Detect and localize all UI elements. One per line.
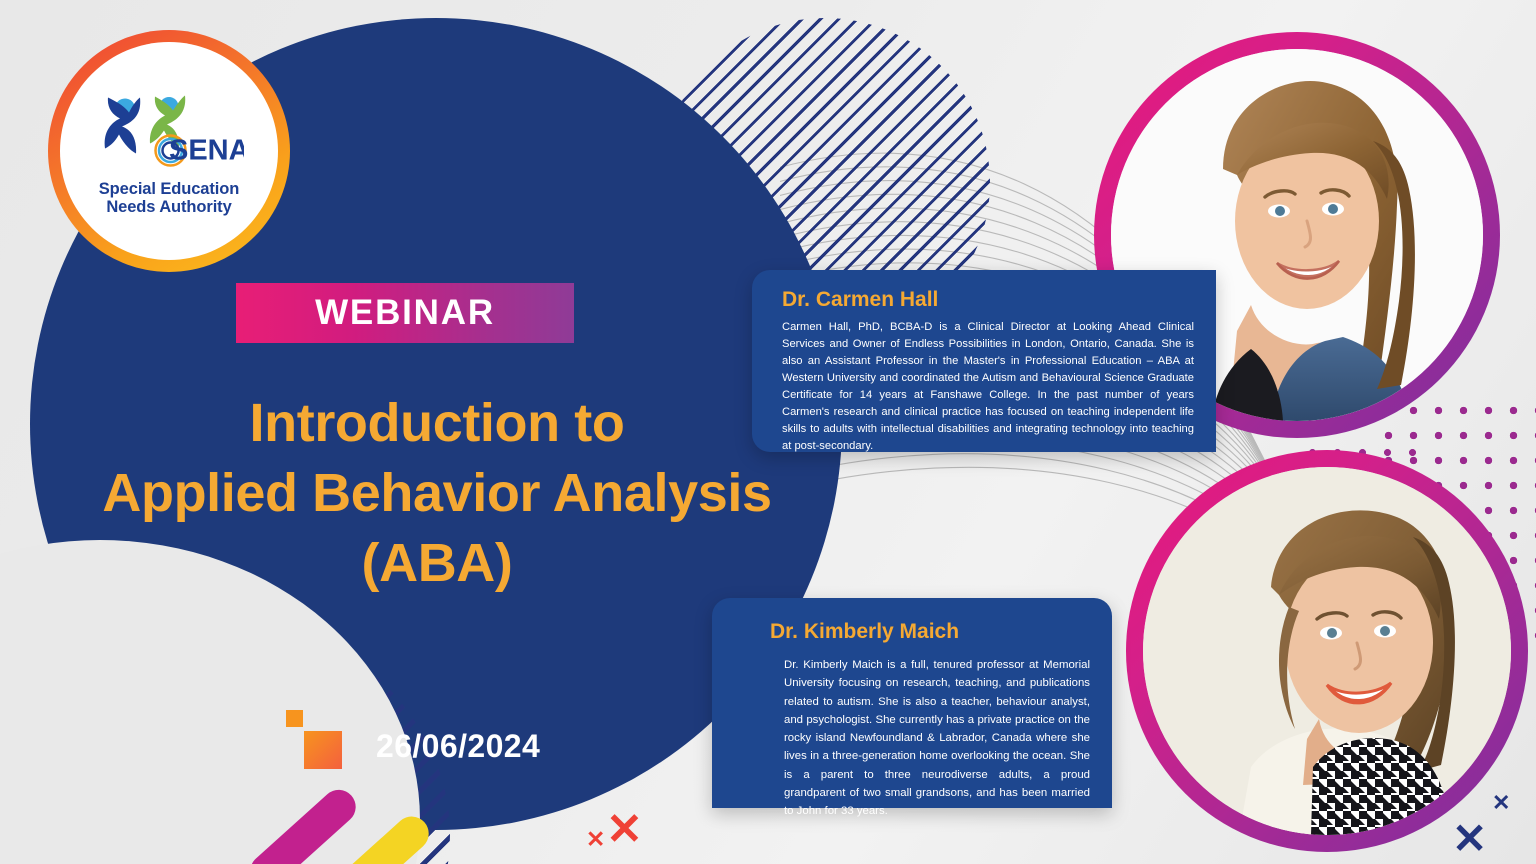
webinar-poster: ✕ ✕ ✕ ✕ SENA Special Education Needs A	[0, 0, 1536, 864]
speaker-bio-carmen-hall: Carmen Hall, PhD, BCBA-D is a Clinical D…	[782, 319, 1194, 455]
sena-logo-mark-icon: SENA	[94, 86, 244, 182]
x-mark-icon: ✕	[1452, 818, 1487, 860]
title-line-1: Introduction to	[42, 388, 832, 458]
logo-inner-disc: SENA Special Education Needs Authority	[60, 42, 278, 260]
event-date: 26/06/2024	[376, 728, 540, 765]
x-mark-icon: ✕	[1492, 792, 1510, 814]
webinar-badge: WEBINAR	[236, 283, 574, 343]
speaker-photo-frame-kimberly-maich	[1126, 450, 1528, 852]
orange-square-small-icon	[286, 710, 303, 727]
title-line-2: Applied Behavior Analysis	[42, 458, 832, 528]
speaker-bio-kimberly-maich: Dr. Kimberly Maich is a full, tenured pr…	[744, 656, 1090, 820]
speaker-avatar-kimberly-maich	[1143, 467, 1511, 835]
webinar-title: Introduction to Applied Behavior Analysi…	[42, 388, 832, 599]
speaker-name-carmen-hall: Dr. Carmen Hall	[782, 288, 1194, 312]
svg-text:SENA: SENA	[169, 134, 244, 166]
speaker-bio-card-kimberly-maich: Dr. Kimberly Maich Dr. Kimberly Maich is…	[712, 598, 1112, 808]
x-mark-icon: ✕	[586, 828, 605, 851]
event-date-row: 26/06/2024	[286, 700, 616, 770]
logo-subtitle-line2: Needs Authority	[99, 198, 239, 216]
speaker-name-kimberly-maich: Dr. Kimberly Maich	[744, 620, 1090, 644]
title-line-3: (ABA)	[42, 528, 832, 598]
logo-subtitle: Special Education Needs Authority	[99, 180, 239, 217]
logo-subtitle-line1: Special Education	[99, 180, 239, 198]
speaker-bio-card-carmen-hall: Dr. Carmen Hall Carmen Hall, PhD, BCBA-D…	[752, 270, 1216, 452]
kimberly-maich-portrait-illustration	[1143, 467, 1511, 835]
orange-square-large-icon	[304, 731, 342, 769]
sena-logo: SENA Special Education Needs Authority	[48, 30, 290, 272]
webinar-badge-label: WEBINAR	[315, 293, 495, 333]
x-mark-icon: ✕	[606, 808, 643, 852]
